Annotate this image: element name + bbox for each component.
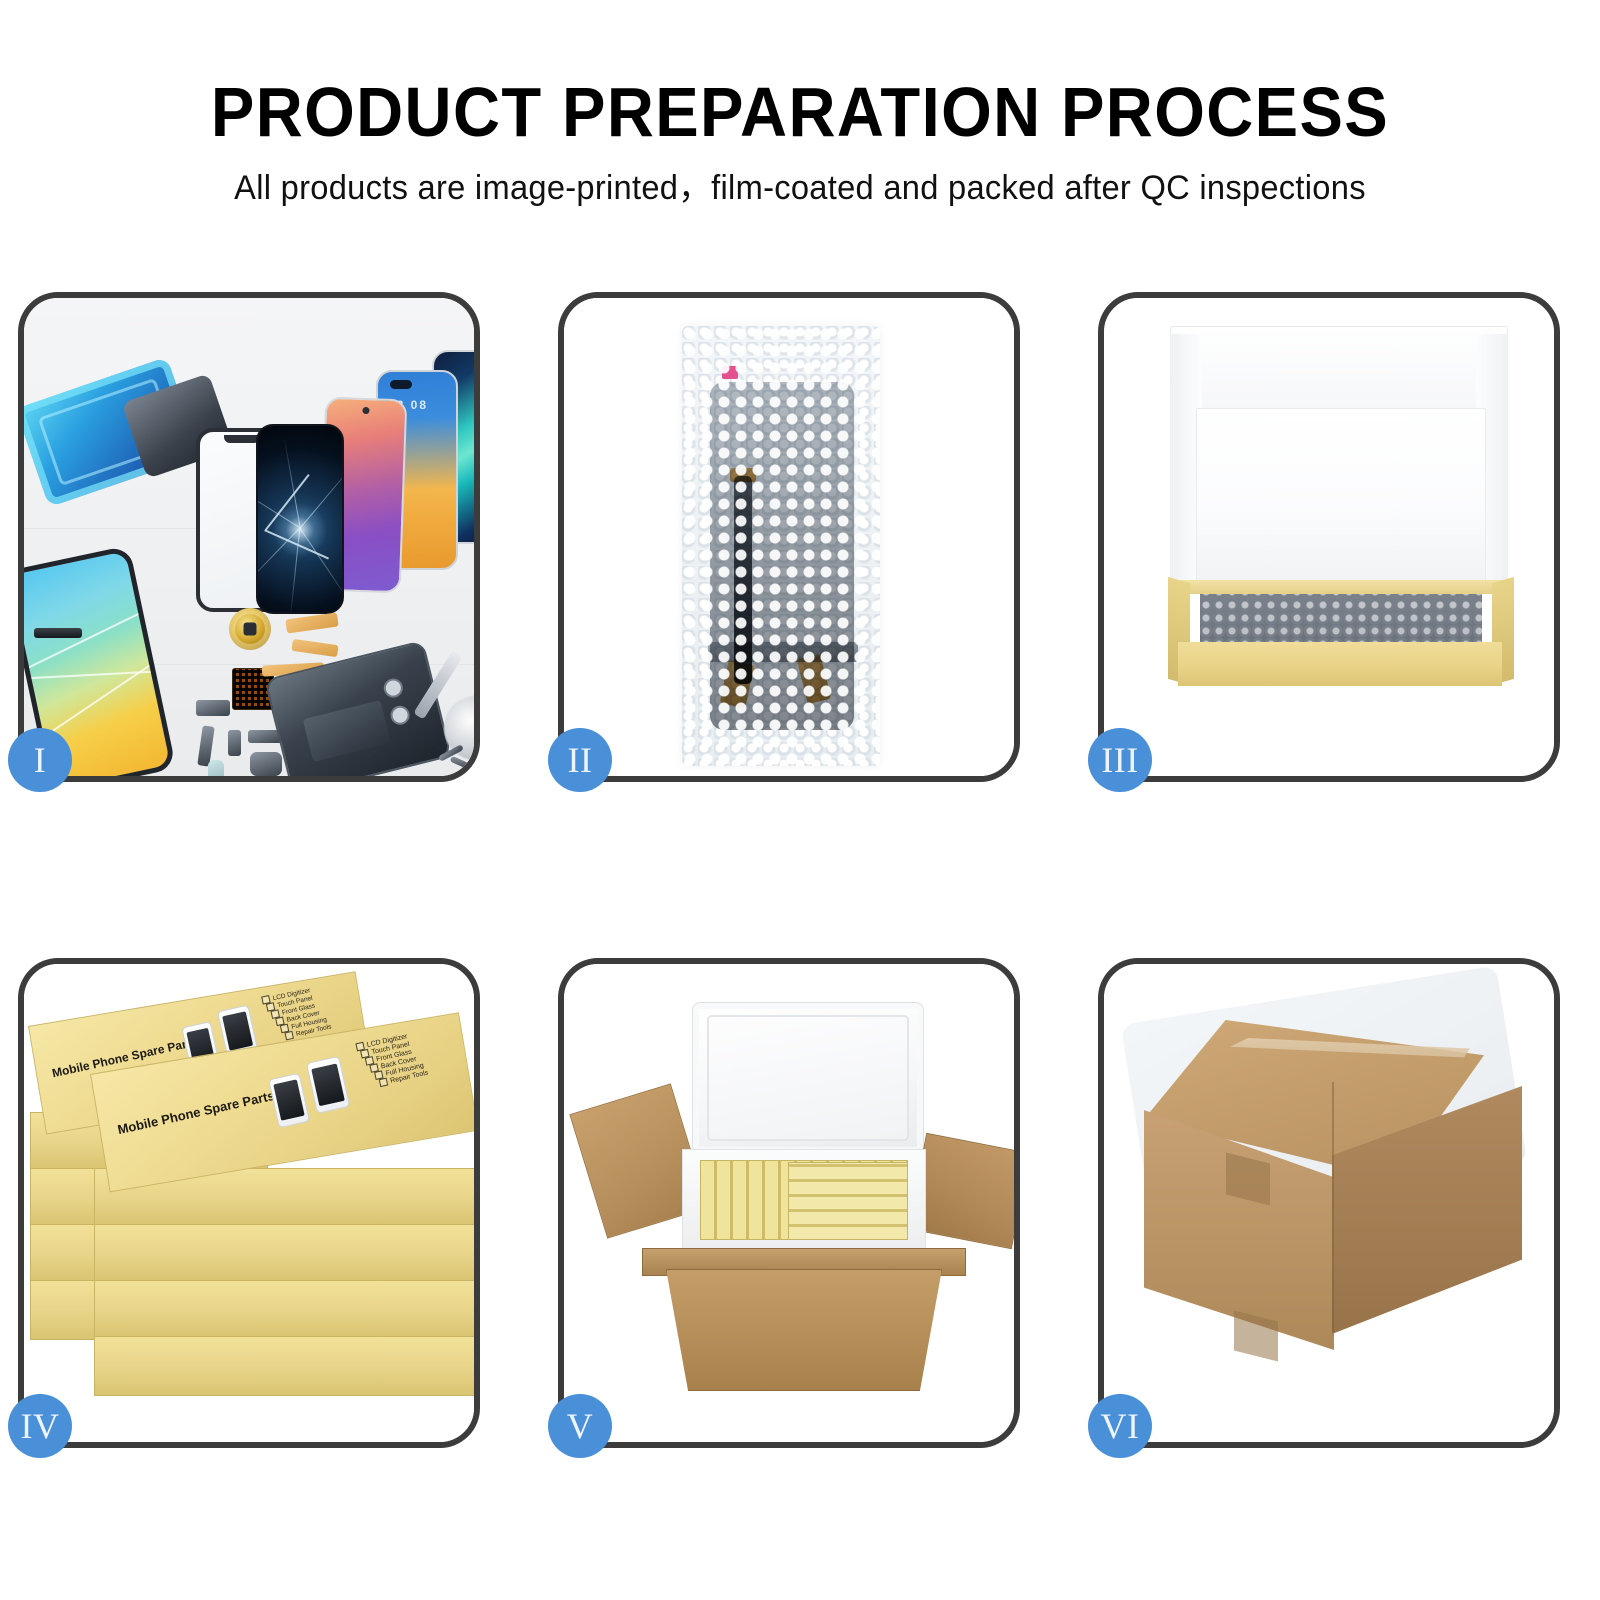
small-component-part: [250, 752, 282, 776]
step-6-image: [1104, 964, 1554, 1442]
step-badge-3: III: [1088, 728, 1152, 792]
crack-line: [37, 660, 155, 740]
step-3-image: [1104, 298, 1554, 776]
retail-box-side-shadow: [86, 1170, 100, 1396]
process-step-panel-5[interactable]: V: [558, 958, 1020, 1448]
box-tray-rim: [1174, 580, 1506, 594]
packed-retail-boxes-secondary: [788, 1162, 908, 1240]
process-step-panel-4[interactable]: Mobile Phone Spare Parts LCD Digitizer T…: [18, 958, 480, 1448]
step-5-image: [564, 964, 1014, 1442]
wireless-charging-coil: [229, 608, 271, 650]
step-2-image: [564, 298, 1014, 776]
step-badge-1: I: [8, 728, 72, 792]
small-component-part: [228, 730, 241, 756]
crack-web: [271, 501, 329, 559]
pink-sticker: [722, 366, 738, 379]
crack-line: [24, 609, 148, 673]
sim-tray-part: [208, 760, 224, 776]
carton-front-face: [666, 1269, 942, 1391]
connector-gold: [730, 468, 756, 482]
camera-lens-part: [382, 677, 405, 700]
box-tray-front: [1178, 642, 1502, 686]
step-badge-2: II: [548, 728, 612, 792]
step-1-image: 08 08: [24, 298, 474, 776]
phone-cracked-screen: [256, 424, 344, 614]
checkbox-icon: [379, 1078, 389, 1088]
bubble-wrap-bag: [682, 326, 880, 766]
lower-bracket: [708, 642, 858, 662]
speaker-module-part: [34, 628, 82, 638]
retail-box-front-stack: [94, 1168, 474, 1418]
small-component-part: [196, 700, 230, 716]
process-step-panel-1[interactable]: 08 08: [18, 292, 480, 782]
box-inner-panel: [1196, 408, 1486, 590]
process-step-grid: 08 08: [0, 0, 1600, 1600]
box-stack: Mobile Phone Spare Parts LCD Digitizer T…: [24, 964, 474, 1442]
glass-notch: [224, 435, 260, 443]
camera-lens-part: [389, 704, 412, 727]
battery-part: [303, 700, 391, 762]
process-step-panel-6[interactable]: VI: [1098, 958, 1560, 1448]
punch-hole-camera: [390, 380, 412, 389]
step-4-image: Mobile Phone Spare Parts LCD Digitizer T…: [24, 964, 474, 1442]
process-step-panel-2[interactable]: II: [558, 292, 1020, 782]
grey-bubble-padding: [1200, 586, 1482, 642]
step-badge-6: VI: [1088, 1394, 1152, 1458]
foam-lid: [692, 1002, 924, 1154]
carton-edge-seam: [1332, 1082, 1334, 1332]
step-badge-4: IV: [8, 1394, 72, 1458]
process-step-panel-3[interactable]: III: [1098, 292, 1560, 782]
step-badge-5: V: [548, 1394, 612, 1458]
home-button: [732, 496, 756, 518]
